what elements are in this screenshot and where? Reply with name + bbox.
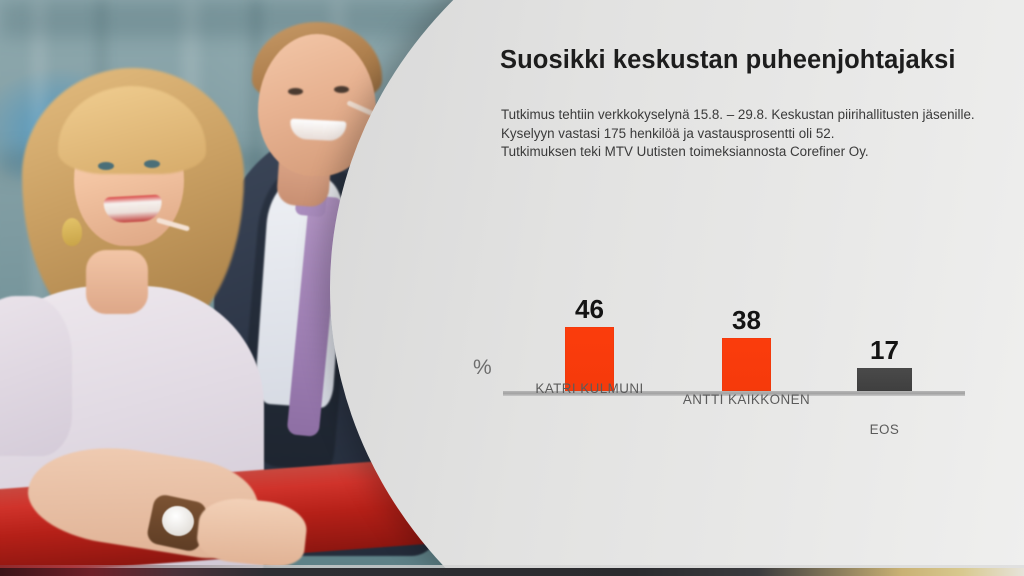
bar-category-label: KATRI KULMUNI [517, 381, 662, 396]
bar-chart: % 46 KATRI KULMUNI 38 ANTTI KAIKKONEN 17… [470, 280, 990, 440]
axis-unit-label: % [473, 356, 492, 380]
page-title: Suosikki keskustan puheenjohtajaksi [500, 46, 956, 75]
bar-antti-kaikkonen: 38 ANTTI KAIKKONEN [722, 338, 771, 391]
bar-eos: 17 EOS [857, 368, 912, 391]
bar-category-label: EOS [809, 422, 960, 437]
bar-value-label: 46 [565, 294, 614, 325]
bar-column [857, 368, 912, 391]
bar-katri-kulmuni: 46 KATRI KULMUNI [565, 327, 614, 391]
bar-value-label: 17 [857, 335, 912, 366]
bottom-color-strip [0, 568, 1024, 576]
bar-value-label: 38 [722, 305, 771, 336]
bar-category-label: ANTTI KAIKKONEN [674, 392, 819, 407]
bar-column [722, 338, 771, 391]
methodology-note: Tutkimus tehtiin verkkokyselynä 15.8. – … [501, 106, 975, 162]
panel-content: Suosikki keskustan puheenjohtajaksi Tutk… [0, 0, 1024, 576]
broadcast-graphic: Suosikki keskustan puheenjohtajaksi Tutk… [0, 0, 1024, 576]
